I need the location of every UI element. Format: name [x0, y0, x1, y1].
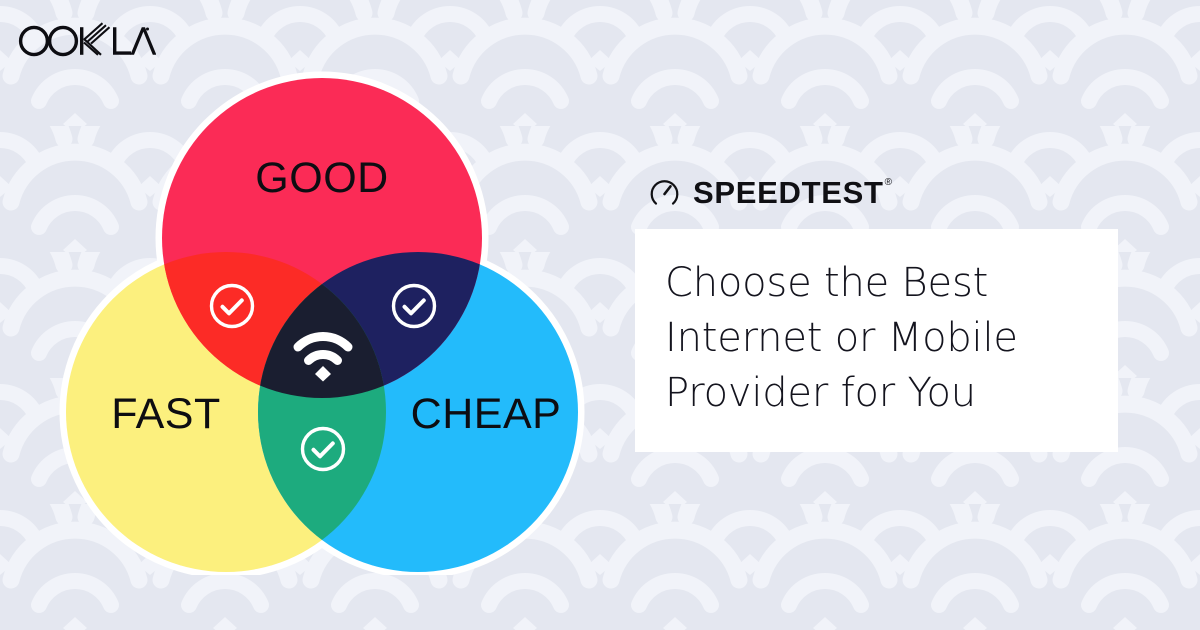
speedtest-wordmark-text: SPEEDTEST — [693, 175, 884, 210]
page-title: Choose the Best Internet or Mobile Provi… — [665, 256, 1088, 422]
venn-label-cheap: CHEAP — [411, 390, 562, 438]
headline-line-1: Choose the Best — [665, 256, 1088, 311]
speedtest-wordmark: SPEEDTEST® — [693, 177, 891, 208]
headline-line-2: Internet or Mobile — [665, 311, 1088, 366]
headline-line-3: Provider for You — [665, 366, 1088, 421]
speedtest-logo: SPEEDTEST® — [635, 168, 1125, 216]
venn-label-good: GOOD — [255, 154, 388, 202]
registered-trademark-symbol: ® — [885, 177, 892, 188]
headline-card: Choose the Best Internet or Mobile Provi… — [635, 229, 1118, 452]
right-content-panel: SPEEDTEST® Choose the Best Internet or M… — [635, 168, 1125, 452]
venn-diagram: GOOD FAST CHEAP — [40, 55, 610, 575]
speedometer-gauge-icon — [649, 177, 680, 208]
promo-graphic: GOOD FAST CHEAP — [0, 0, 1200, 630]
venn-label-fast: FAST — [111, 390, 221, 438]
